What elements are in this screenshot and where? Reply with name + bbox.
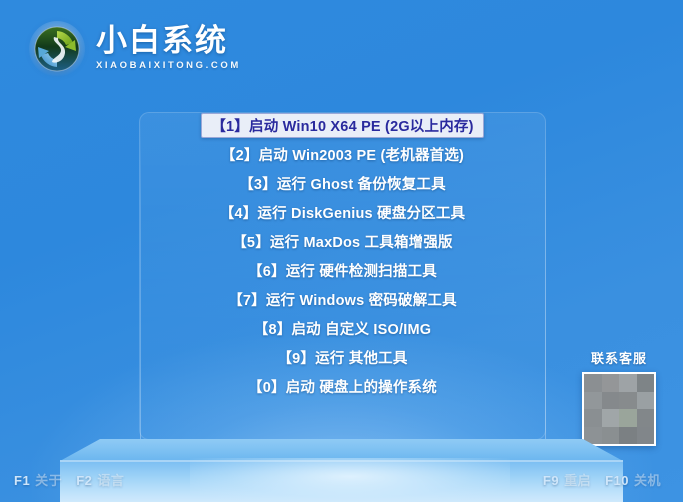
qr-cell [619,374,637,392]
hint-action-label: 关机 [634,470,661,489]
boot-menu-list: 【1】启动 Win10 X64 PE (2G以上内存)【2】启动 Win2003… [139,114,546,404]
qr-cell [619,409,637,427]
hint-f1[interactable]: F1关于 [14,470,62,489]
brand-logo: 小白系统 XIAOBAIXITONG.COM [28,20,241,78]
qr-cell [584,409,602,427]
stage-platform-top [60,439,623,461]
boot-menu-item-0[interactable]: 【0】启动 硬盘上的操作系统 [139,375,546,397]
boot-menu-item-9[interactable]: 【9】运行 其他工具 [139,346,546,368]
boot-menu-item-5[interactable]: 【5】运行 MaxDos 工具箱增强版 [139,230,546,252]
hint-key-label: F9 [543,473,559,488]
qr-code-icon [582,372,656,446]
contact-service-title: 联系客服 [591,348,647,367]
hint-key-label: F2 [76,473,92,488]
qr-cell [602,374,620,392]
boot-menu-item-3[interactable]: 【3】运行 Ghost 备份恢复工具 [139,172,546,194]
qr-cell [584,374,602,392]
qr-cell [619,392,637,410]
boot-menu-screen: 小白系统 XIAOBAIXITONG.COM 【1】启动 Win10 X64 P… [0,0,683,502]
contact-service-block: 联系客服 [566,348,672,446]
boot-menu-item-label: 【6】运行 硬件检测扫描工具 [240,258,445,283]
function-key-hints-right: F9重启F10关机 [543,470,669,489]
boot-menu-item-1[interactable]: 【1】启动 Win10 X64 PE (2G以上内存) [139,114,546,136]
qr-cell [637,374,655,392]
hint-action-label: 关于 [35,470,62,489]
qr-cell [619,427,637,445]
brand-title: 小白系统 [96,25,241,58]
hint-action-label: 语言 [97,470,124,489]
boot-menu-item-6[interactable]: 【6】运行 硬件检测扫描工具 [139,259,546,281]
qr-cell [602,409,620,427]
boot-menu-item-label: 【5】运行 MaxDos 工具箱增强版 [224,229,461,254]
boot-menu-item-label: 【1】启动 Win10 X64 PE (2G以上内存) [201,113,483,138]
boot-menu-item-label: 【2】启动 Win2003 PE (老机器首选) [213,142,472,167]
boot-menu-item-label: 【9】运行 其他工具 [269,345,415,370]
boot-menu-item-2[interactable]: 【2】启动 Win2003 PE (老机器首选) [139,143,546,165]
hint-f2[interactable]: F2语言 [76,470,124,489]
circular-refresh-arrows-icon [28,20,86,78]
qr-cell [602,392,620,410]
qr-cell [637,409,655,427]
stage-platform-front [60,460,623,502]
hint-f9[interactable]: F9重启 [543,470,591,489]
brand-text: 小白系统 XIAOBAIXITONG.COM [96,25,241,74]
hint-key-label: F1 [14,473,30,488]
boot-menu-item-8[interactable]: 【8】启动 自定义 ISO/IMG [139,317,546,339]
brand-subtitle: XIAOBAIXITONG.COM [96,60,241,71]
boot-menu-item-label: 【3】运行 Ghost 备份恢复工具 [231,171,454,196]
boot-menu-item-label: 【7】运行 Windows 密码破解工具 [220,287,465,312]
qr-cell [602,427,620,445]
hint-key-label: F10 [605,473,629,488]
qr-cell [584,392,602,410]
boot-menu-item-label: 【8】启动 自定义 ISO/IMG [246,316,439,341]
boot-menu-item-label: 【4】运行 DiskGenius 硬盘分区工具 [212,200,474,225]
hint-action-label: 重启 [564,470,591,489]
boot-menu-item-7[interactable]: 【7】运行 Windows 密码破解工具 [139,288,546,310]
qr-cell [637,392,655,410]
function-key-hints-left: F1关于F2语言 [14,470,132,489]
qr-cell [637,427,655,445]
boot-menu-item-4[interactable]: 【4】运行 DiskGenius 硬盘分区工具 [139,201,546,223]
hint-f10[interactable]: F10关机 [605,470,661,489]
boot-menu-item-label: 【0】启动 硬盘上的操作系统 [240,374,445,399]
